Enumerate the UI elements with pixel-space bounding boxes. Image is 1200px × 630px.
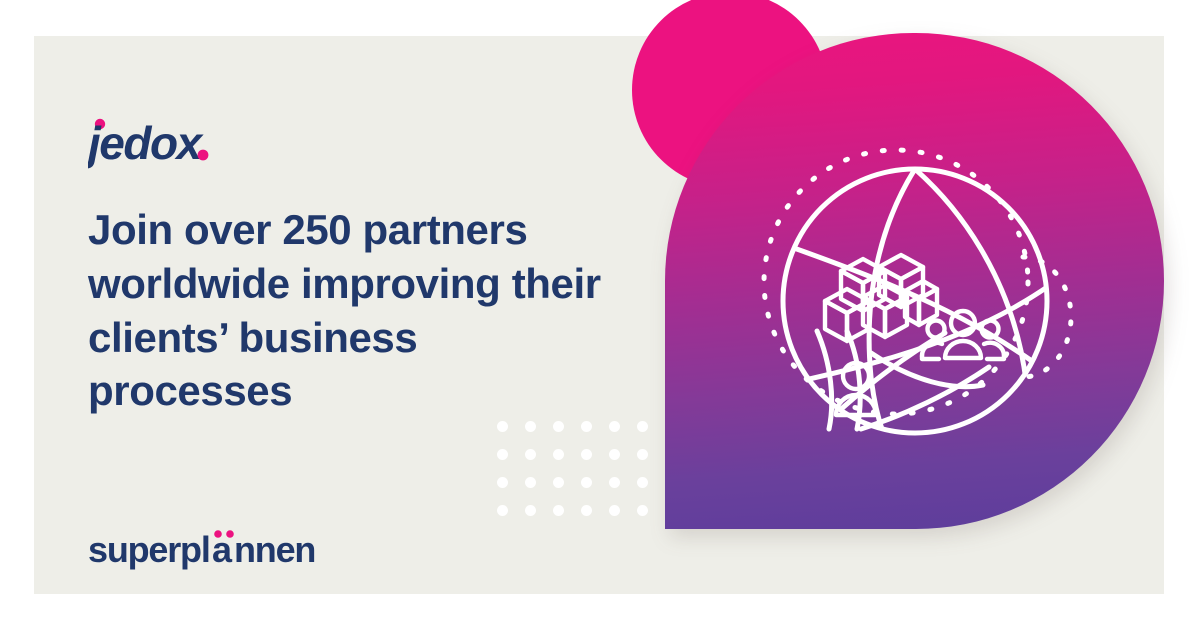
grid-dot [553, 449, 564, 460]
umlaut-dot-right-icon [226, 530, 234, 538]
grid-dot [497, 421, 508, 432]
grid-dot [637, 449, 648, 460]
headline-line-3: clients’ business processes [88, 314, 417, 415]
grid-dot [553, 477, 564, 488]
grid-dot [609, 449, 620, 460]
grid-dot [581, 477, 592, 488]
grid-dot [581, 449, 592, 460]
grid-dot [581, 421, 592, 432]
grid-dot [525, 449, 536, 460]
partner-logo-part1: superpl [88, 529, 210, 570]
partner-banner: jedox Join over 250 partners worldwide i… [0, 0, 1200, 630]
grid-dot [637, 477, 648, 488]
grid-dot [609, 477, 620, 488]
headline-line-2: worldwide improving their [88, 260, 601, 307]
jedox-logo-period-icon [198, 150, 209, 161]
grid-dot [497, 477, 508, 488]
grid-dot [637, 421, 648, 432]
grid-dot [525, 477, 536, 488]
umlaut-dot-left-icon [214, 530, 222, 538]
grid-dot [525, 421, 536, 432]
page-title: Join over 250 partners worldwide improvi… [88, 203, 618, 418]
grid-dot [553, 421, 564, 432]
grid-dot [609, 421, 620, 432]
jedox-logo[interactable]: jedox [88, 112, 268, 172]
headline-line-1: Join over 250 partners [88, 206, 527, 253]
partner-logo-part3: nnen [234, 529, 315, 570]
grid-dot [553, 505, 564, 516]
jedox-logo-text: jedox [88, 117, 205, 169]
dot-grid-pattern [488, 412, 688, 512]
globe-network-illustration [665, 33, 1164, 529]
grid-dot [497, 505, 508, 516]
partner-logo[interactable]: superpl a nnen [88, 526, 338, 574]
grid-dot [497, 449, 508, 460]
grid-dot [637, 505, 648, 516]
grid-dot [609, 505, 620, 516]
grid-dot [581, 505, 592, 516]
grid-dot [525, 505, 536, 516]
